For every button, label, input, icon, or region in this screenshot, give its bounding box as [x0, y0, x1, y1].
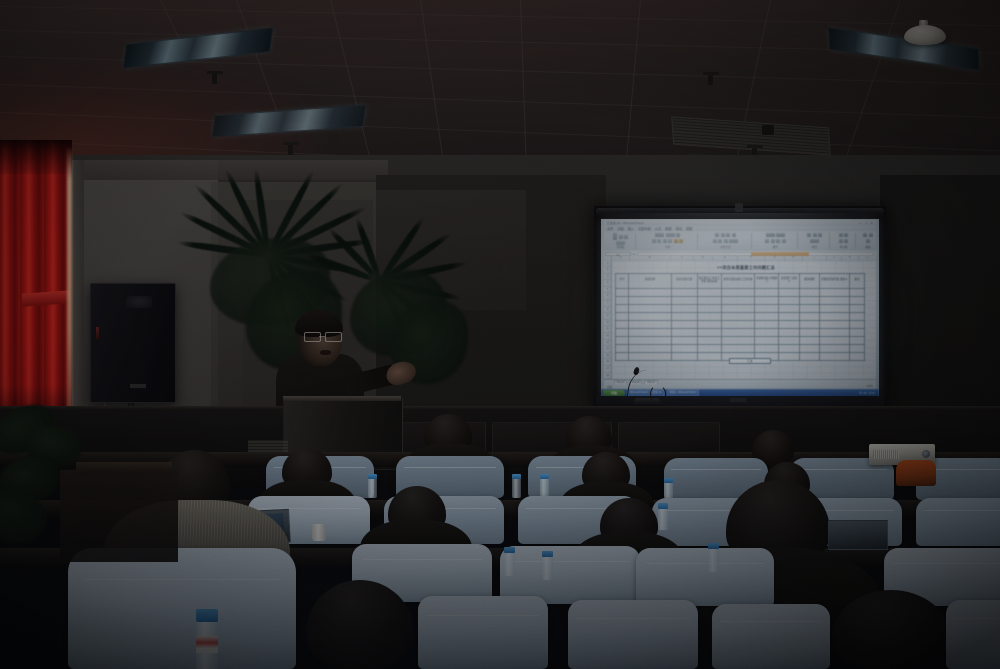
table-cell[interactable] — [671, 288, 697, 296]
ribbon-group-editing[interactable]: 编辑 — [858, 233, 878, 249]
ceiling-sprinkler — [708, 75, 713, 85]
ribbon-group-label: 单元格 — [840, 245, 848, 249]
table-cell[interactable] — [820, 296, 850, 304]
table-cell[interactable] — [697, 352, 721, 360]
table-cell[interactable] — [697, 328, 721, 336]
table-row[interactable] — [616, 304, 865, 312]
ceiling-sprinkler — [288, 145, 293, 155]
ribbon-group-label: 样式 — [812, 245, 817, 249]
table-cell[interactable] — [671, 352, 697, 360]
status-text: 就绪 — [607, 385, 612, 389]
table-cell[interactable] — [849, 336, 864, 344]
table-cell[interactable] — [721, 288, 754, 296]
table-cell[interactable] — [671, 344, 697, 352]
table-cell[interactable] — [671, 336, 697, 344]
table-column-header: 解决期限 — [799, 274, 820, 289]
table-row[interactable] — [616, 312, 865, 320]
table-cell[interactable] — [697, 304, 721, 312]
audience-chair — [568, 600, 698, 669]
selected-cell[interactable]: 汇总 — [729, 358, 771, 364]
table-cell[interactable] — [721, 328, 754, 336]
water-bottle — [504, 552, 515, 576]
table-column-header: 存在主要问 题 — [671, 274, 697, 289]
table-cell[interactable] — [616, 320, 629, 328]
screen-bottom-hook — [730, 398, 746, 402]
bottle-cap — [664, 478, 673, 483]
water-bottle — [658, 508, 668, 530]
bottle-cap — [196, 609, 218, 622]
presenter-mouth — [320, 350, 331, 355]
wooden-chair — [60, 470, 178, 562]
ribbon-group-clipboard[interactable]: 剪贴板 — [606, 233, 636, 249]
water-bottle — [708, 548, 719, 572]
document-title: ××项目本周重要工作问题汇总 — [661, 265, 831, 271]
table-cell[interactable] — [799, 336, 820, 344]
table-cell[interactable] — [779, 312, 800, 320]
table-row[interactable] — [616, 344, 865, 352]
table-cell[interactable] — [820, 320, 850, 328]
table-cell[interactable] — [629, 320, 671, 328]
table-cell[interactable] — [779, 288, 800, 296]
table-cell[interactable] — [721, 336, 754, 344]
row-header[interactable]: 5 — [604, 287, 611, 294]
bottle-cap — [512, 474, 521, 479]
row-header[interactable]: 15 — [604, 353, 611, 360]
presenter-glasses — [304, 332, 342, 340]
table-cell[interactable] — [697, 320, 721, 328]
row-header[interactable]: 16 — [604, 359, 611, 366]
bottle-cap — [542, 551, 553, 557]
row-header[interactable]: 2 — [604, 267, 611, 274]
table-cell[interactable] — [755, 344, 779, 352]
speaker-power-led — [96, 327, 99, 339]
table-cell[interactable] — [849, 304, 864, 312]
row-header[interactable]: 11 — [604, 326, 611, 333]
table-cell[interactable] — [671, 312, 697, 320]
table-column-header: 主要解决的 问题部门 — [755, 274, 779, 289]
table-cell[interactable] — [849, 312, 864, 320]
audience-chair — [68, 548, 296, 669]
row-header[interactable]: 17 — [604, 366, 611, 373]
table-cell[interactable] — [697, 344, 721, 352]
table-cell[interactable] — [779, 344, 800, 352]
table-cell[interactable] — [671, 320, 697, 328]
ribbon-group-label: 对齐方式 — [720, 245, 730, 249]
table-cell[interactable] — [721, 304, 754, 312]
table-cell[interactable] — [820, 328, 850, 336]
paper-cup — [312, 524, 326, 541]
water-bottle — [542, 556, 553, 580]
row-header-column: 1 2 3 4 5 6 7 8 9 10 11 12 13 14 15 16 1… — [604, 261, 612, 391]
table-cell[interactable] — [755, 336, 779, 344]
bottle-cap — [504, 547, 515, 553]
table-cell[interactable] — [799, 304, 820, 312]
table-cell[interactable] — [820, 304, 850, 312]
ribbon-group-label: 剪贴板 — [617, 245, 625, 249]
table-cell[interactable] — [721, 312, 754, 320]
bottle-cap — [658, 503, 668, 509]
table-cell[interactable] — [616, 296, 629, 304]
cable-loop — [650, 385, 666, 403]
minimize-icon[interactable]: — — [859, 221, 862, 225]
excel-ribbon: 剪贴板 字体 对齐方式 数字 — [604, 231, 876, 252]
podium-top-surface — [283, 396, 401, 401]
table-cell[interactable] — [629, 304, 671, 312]
row-header[interactable]: 13 — [604, 340, 611, 347]
conference-room-photo: 汇总表.xls - Microsoft Excel — □ ✕ 文件 开始 插入… — [0, 0, 1000, 669]
table-cell[interactable] — [755, 296, 779, 304]
row-header[interactable]: 7 — [604, 300, 611, 307]
maximize-icon[interactable]: □ — [866, 221, 868, 225]
table-cell[interactable] — [799, 320, 820, 328]
projector-vent — [873, 450, 899, 459]
close-icon[interactable]: ✕ — [870, 221, 873, 225]
table-cell[interactable] — [755, 328, 779, 336]
ribbon-group-number[interactable]: 数字 — [754, 233, 798, 249]
ribbon-group-label: 数字 — [773, 245, 778, 249]
row-header[interactable]: 4 — [604, 280, 611, 287]
table-cell[interactable] — [616, 336, 629, 344]
table-cell[interactable] — [799, 352, 820, 360]
ceiling-sprinkler — [212, 74, 217, 84]
audience-member-orange — [896, 460, 936, 486]
table-column-header: 问题主管领导及 督办人 — [820, 274, 850, 289]
audience-chair — [636, 548, 774, 606]
table-cell[interactable] — [849, 296, 864, 304]
table-cell[interactable] — [779, 352, 800, 360]
table-cell[interactable] — [616, 304, 629, 312]
table-cell[interactable] — [799, 288, 820, 296]
table-cell[interactable] — [671, 328, 697, 336]
table-cell[interactable] — [697, 312, 721, 320]
table-cell[interactable] — [779, 336, 800, 344]
water-bottle — [512, 478, 521, 498]
table-column-header: 落实整改工 作的工作要 求及措施 — [697, 274, 721, 289]
wall-header-band — [58, 160, 388, 180]
table-cell[interactable] — [849, 320, 864, 328]
ribbon-group-styles[interactable]: 样式 — [800, 233, 830, 249]
vent-damper — [762, 125, 774, 135]
curtain-top-shadow — [0, 140, 72, 174]
table-cell[interactable] — [755, 288, 779, 296]
table-cell[interactable] — [721, 296, 754, 304]
table-cell[interactable] — [629, 296, 671, 304]
ime-indicator[interactable]: 中 — [859, 391, 862, 395]
ribbon-group-font[interactable]: 字体 — [638, 233, 698, 249]
audience-laptop — [828, 520, 888, 550]
table-cell[interactable] — [849, 344, 864, 352]
ribbon-active-highlight — [751, 252, 809, 256]
bottle-cap — [540, 474, 549, 479]
table-header-row: 序号 项目名称 存在主要问 题 落实整改工 作的工作要 求及措施 本周主要完成的… — [616, 274, 865, 289]
table-cell[interactable] — [820, 312, 850, 320]
excel-window-title: 汇总表.xls - Microsoft Excel — [607, 221, 644, 225]
table-cell[interactable] — [629, 328, 671, 336]
ribbon-group-label: 字体 — [665, 245, 670, 249]
table-cell[interactable] — [799, 312, 820, 320]
table-row[interactable] — [616, 336, 865, 344]
bottle-cap — [368, 474, 377, 479]
table-cell[interactable] — [671, 296, 697, 304]
row-header[interactable]: 1 — [604, 261, 611, 268]
table-cell[interactable] — [799, 296, 820, 304]
row-header[interactable]: 3 — [604, 274, 611, 281]
table-cell[interactable] — [616, 352, 629, 360]
bottle-label — [196, 636, 218, 653]
table-cell[interactable] — [755, 304, 779, 312]
table-cell[interactable] — [721, 344, 754, 352]
table-cell[interactable] — [849, 352, 864, 360]
table-cell[interactable] — [820, 352, 850, 360]
audience-chair — [916, 498, 1000, 546]
audience-chair — [418, 596, 548, 669]
speaker-brand-badge — [130, 384, 146, 388]
table-cell[interactable] — [721, 320, 754, 328]
table-cell[interactable] — [779, 296, 800, 304]
ceiling-dome-speaker — [904, 25, 946, 45]
table-cell[interactable] — [629, 344, 671, 352]
table-cell[interactable] — [820, 288, 850, 296]
table-cell[interactable] — [697, 288, 721, 296]
projector-lens — [922, 450, 930, 458]
ribbon-group-label: 编辑 — [865, 245, 870, 249]
table-cell[interactable] — [799, 328, 820, 336]
table-cell[interactable] — [697, 296, 721, 304]
audience-chair — [946, 600, 1000, 669]
ribbon-group-cells[interactable]: 单元格 — [832, 233, 856, 249]
screen-roller-bracket — [735, 203, 743, 212]
ribbon-group-alignment[interactable]: 对齐方式 — [700, 233, 752, 249]
table-cell[interactable] — [616, 328, 629, 336]
table-row[interactable] — [616, 288, 865, 296]
table-cell[interactable] — [799, 344, 820, 352]
table-body — [616, 288, 865, 360]
table-cell[interactable] — [755, 312, 779, 320]
wooden-chair-back — [76, 462, 172, 474]
row-header[interactable]: 14 — [604, 346, 611, 353]
table-cell[interactable] — [755, 320, 779, 328]
table-cell[interactable] — [629, 288, 671, 296]
table-row[interactable] — [616, 296, 865, 304]
table-cell[interactable] — [849, 328, 864, 336]
window-light-leak — [67, 146, 72, 431]
keyboard-layout-indicator[interactable]: EN — [863, 392, 867, 395]
table-row[interactable] — [616, 328, 865, 336]
name-box[interactable]: A1 — [605, 252, 631, 256]
row-header[interactable]: 6 — [604, 293, 611, 300]
row-header[interactable]: 10 — [604, 320, 611, 327]
table-column-header: 本周主要完成的 工作内容 — [721, 274, 754, 289]
table-cell[interactable] — [671, 304, 697, 312]
table-cell[interactable] — [629, 352, 671, 360]
fx-icon[interactable]: fx — [633, 252, 635, 256]
row-header[interactable]: 12 — [604, 333, 611, 340]
table-cell[interactable] — [779, 304, 800, 312]
table-cell[interactable] — [616, 312, 629, 320]
table-cell[interactable] — [629, 312, 671, 320]
table-cell[interactable] — [779, 320, 800, 328]
bottle-cap — [708, 543, 719, 549]
row-header[interactable]: 8 — [604, 307, 611, 314]
water-bottle — [540, 478, 549, 498]
clock[interactable]: 15:42 — [869, 392, 876, 395]
speaker-driver — [126, 296, 152, 308]
zoom-level[interactable]: 100% — [866, 385, 873, 388]
row-header[interactable]: 9 — [604, 313, 611, 320]
table-cell[interactable] — [616, 288, 629, 296]
audience-chair — [712, 604, 830, 669]
table-cell[interactable] — [820, 344, 850, 352]
table-column-header: 序号 — [616, 274, 629, 289]
table-column-header: 备注 — [849, 274, 864, 289]
water-bottle — [368, 478, 377, 498]
table-cell[interactable] — [820, 336, 850, 344]
table-cell[interactable] — [779, 328, 800, 336]
table-column-header: 责任部门 责任人 — [779, 274, 800, 289]
table-cell[interactable] — [629, 336, 671, 344]
table-column-header: 项目名称 — [629, 274, 671, 289]
table-row[interactable] — [616, 320, 865, 328]
table-cell[interactable] — [849, 288, 864, 296]
table-cell[interactable] — [697, 336, 721, 344]
summary-table[interactable]: 序号 项目名称 存在主要问 题 落实整改工 作的工作要 求及措施 本周主要完成的… — [615, 273, 865, 361]
table-cell[interactable] — [616, 344, 629, 352]
stage-top-edge — [0, 406, 1000, 410]
